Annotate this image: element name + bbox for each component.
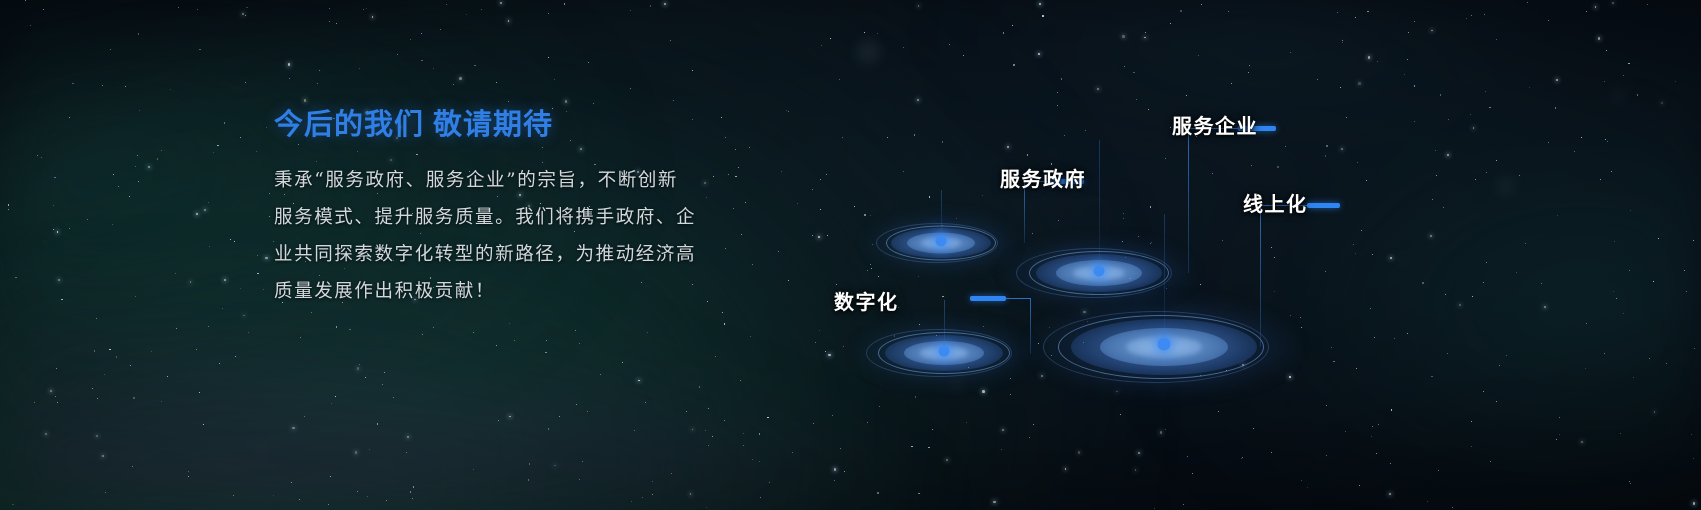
connector-digital-vertical bbox=[1030, 298, 1031, 354]
connector-online-stem bbox=[1164, 214, 1165, 346]
node-dot-service-government[interactable] bbox=[936, 236, 947, 247]
hero-banner: 今后的我们 敬请期待 秉承“服务政府、服务企业”的宗旨，不断创新 服务模式、提升… bbox=[0, 0, 1701, 510]
label-digital[interactable]: 数字化 bbox=[834, 286, 899, 315]
label-online[interactable]: 线上化 bbox=[1243, 188, 1308, 217]
label-service-government[interactable]: 服务政府 bbox=[1000, 163, 1086, 192]
connector-online-vertical bbox=[1260, 205, 1261, 347]
connector-online-dash bbox=[1307, 203, 1340, 208]
node-dot-service-enterprise[interactable] bbox=[1094, 266, 1105, 277]
connector-digital-horizontal bbox=[1004, 298, 1031, 299]
label-service-enterprise[interactable]: 服务企业 bbox=[1172, 110, 1258, 139]
connector-digital-stem bbox=[944, 300, 945, 352]
connector-service-enterprise-vertical bbox=[1188, 128, 1189, 273]
network-diagram: 数字化 服务政府 服务企业 线上化 bbox=[0, 0, 1701, 510]
connector-service-government-stem bbox=[941, 190, 942, 242]
node-dot-online[interactable] bbox=[1158, 338, 1171, 351]
connector-service-enterprise-stem bbox=[1099, 140, 1100, 272]
connector-digital-dash bbox=[970, 296, 1006, 301]
node-dot-digital[interactable] bbox=[939, 346, 950, 357]
